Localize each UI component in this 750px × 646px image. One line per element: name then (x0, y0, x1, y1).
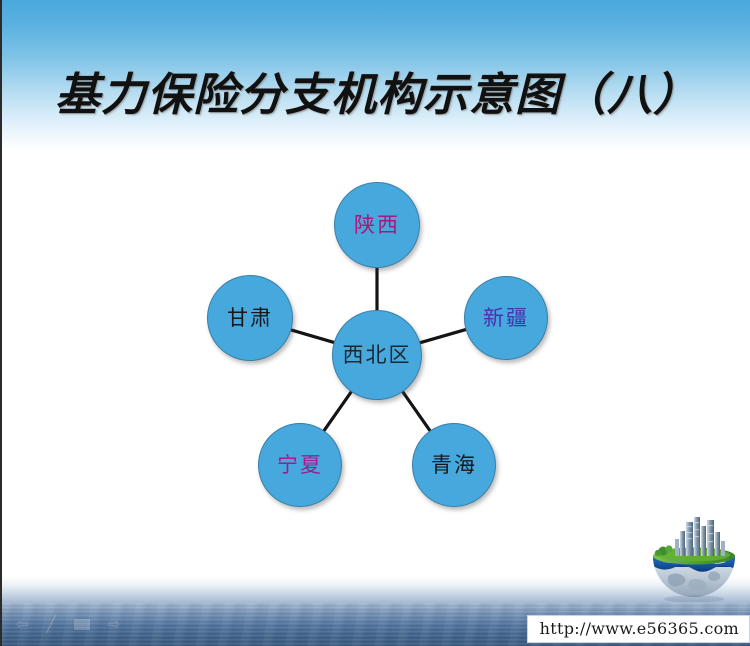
node-qinghai-label: 青海 (431, 455, 477, 476)
edge-center-to-qinghai (402, 391, 430, 431)
website-url[interactable]: http://www.e56365.com (527, 615, 750, 643)
slide-canvas: ⇦ ╱ ⇨ 基力保险分支机构示意图（八） 西北区 陕西 新疆 青海 宁夏 甘肃 (0, 0, 750, 646)
node-gansu-label: 甘肃 (227, 308, 273, 329)
node-xinjiang-label: 新疆 (483, 308, 529, 329)
node-center-label: 西北区 (343, 345, 412, 366)
earth-city-globe-icon (646, 514, 742, 602)
node-shaanxi-label: 陕西 (354, 215, 400, 236)
node-center[interactable]: 西北区 (332, 310, 422, 400)
org-diagram: 西北区 陕西 新疆 青海 宁夏 甘肃 (2, 0, 750, 646)
edge-center-to-gansu (290, 330, 335, 343)
node-shaanxi[interactable]: 陕西 (334, 182, 420, 268)
node-ningxia-label: 宁夏 (277, 455, 323, 476)
node-xinjiang[interactable]: 新疆 (464, 276, 548, 360)
node-gansu[interactable]: 甘肃 (207, 275, 293, 361)
node-ningxia[interactable]: 宁夏 (258, 423, 342, 507)
edge-center-to-ningxia (324, 391, 352, 431)
node-qinghai[interactable]: 青海 (412, 423, 496, 507)
edge-center-to-xinjiang (419, 329, 466, 343)
